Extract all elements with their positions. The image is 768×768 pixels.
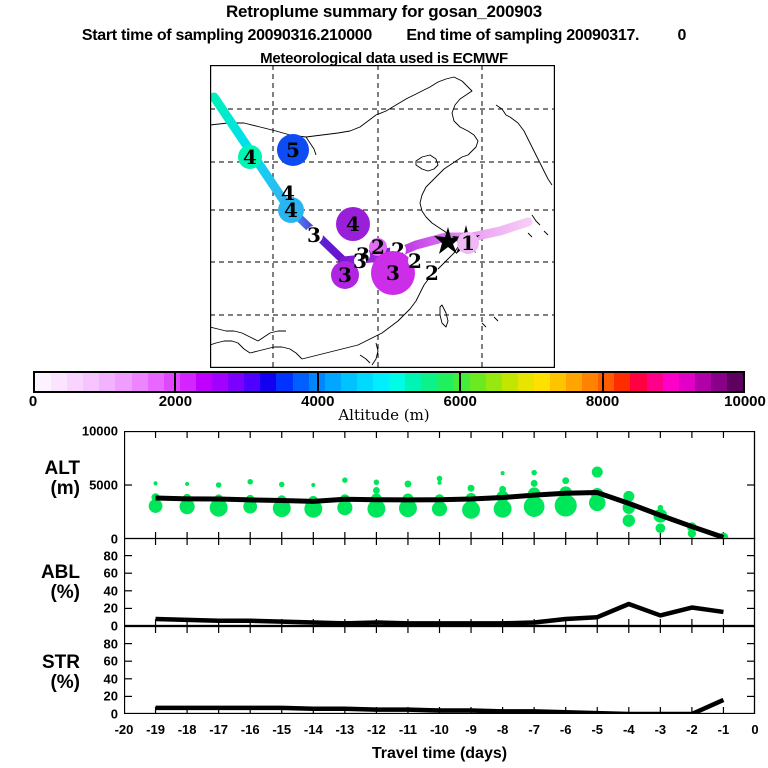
altitude-bubble	[658, 505, 664, 511]
colorbar-swatch	[260, 373, 276, 391]
xaxis-tick-label: -6	[560, 722, 572, 737]
colorbar-swatch	[325, 373, 341, 391]
map-svg: 454434333223221	[210, 65, 555, 368]
colorbar-swatch	[405, 373, 421, 391]
colorbar-swatch	[679, 373, 695, 391]
map-cluster: 2	[425, 261, 439, 285]
start-time-value: 20090316.210000	[247, 27, 372, 44]
cluster-day-label: 4	[243, 145, 257, 169]
str-panel-label: STR (%)	[8, 653, 80, 693]
xaxis-tick-label: -7	[528, 722, 540, 737]
xaxis-tick-label: -13	[335, 722, 354, 737]
altitude-bubble	[247, 479, 253, 485]
colorbar-swatch	[421, 373, 437, 391]
colorbar-swatch	[99, 373, 115, 391]
map-cluster: 4	[281, 181, 295, 205]
altitude-bubble	[468, 485, 475, 492]
colorbar-swatch	[35, 373, 51, 391]
altitude-bubble	[374, 480, 380, 486]
altitude-bubble	[437, 476, 443, 482]
colorbar-swatch	[614, 373, 630, 391]
colorbar-swatch	[293, 373, 309, 391]
yaxis-tick-label: 80	[72, 548, 118, 563]
yaxis-tick-label: 20	[72, 689, 118, 704]
start-time-label: Start time of sampling	[82, 27, 243, 44]
colorbar-separator	[174, 371, 176, 393]
altitude-bubble	[531, 470, 537, 476]
alt-label-line1: ALT	[44, 458, 80, 479]
colorbar-swatch	[518, 373, 534, 391]
altitude-colorbar	[33, 371, 745, 393]
altitude-bubble	[373, 487, 380, 494]
colorbar-swatch	[228, 373, 244, 391]
colorbar-separator	[317, 371, 319, 393]
xaxis-title: Travel time (days)	[124, 745, 755, 763]
yaxis-tick-label: 80	[72, 636, 118, 651]
altitude-bubble	[405, 480, 412, 487]
xaxis-tick-label: -9	[465, 722, 477, 737]
map-cluster: 5	[277, 134, 309, 166]
xaxis-tick-label: -1	[718, 722, 730, 737]
altitude-bubble	[311, 483, 315, 487]
colorbar-swatch	[148, 373, 164, 391]
map-cluster: 4	[238, 145, 262, 169]
cluster-day-label: 5	[286, 138, 300, 162]
colorbar-swatch	[663, 373, 679, 391]
altitude-bubble	[688, 529, 696, 537]
altitude-bubble	[562, 477, 569, 484]
colorbar-swatch	[389, 373, 405, 391]
colorbar-swatch	[132, 373, 148, 391]
colorbar-swatch	[437, 373, 453, 391]
alt-panel-label: ALT (m)	[8, 459, 80, 499]
yaxis-tick-label: 40	[72, 671, 118, 686]
altitude-bubble	[656, 523, 666, 533]
xaxis-tick-label: -15	[272, 722, 291, 737]
colorbar-swatch	[582, 373, 598, 391]
colorbar-swatch	[67, 373, 83, 391]
yaxis-tick-label: 40	[72, 583, 118, 598]
colorbar-swatch	[212, 373, 228, 391]
xaxis-tick-label: -18	[178, 722, 197, 737]
map-cluster: 3	[353, 249, 367, 273]
colorbar-swatch	[711, 373, 727, 391]
abl-label-line2: (%)	[8, 583, 80, 603]
colorbar-swatch	[630, 373, 646, 391]
yaxis-tick-label: 0	[72, 532, 118, 547]
xaxis-tick-label: -19	[146, 722, 165, 737]
cluster-day-label: 4	[346, 212, 360, 236]
yaxis-tick-label: 20	[72, 601, 118, 616]
altitude-bubble	[342, 477, 348, 483]
colorbar-separator	[602, 371, 604, 393]
xaxis-tick-label: -4	[623, 722, 635, 737]
colorbar-swatches	[33, 371, 745, 393]
cluster-day-label: 3	[353, 249, 367, 273]
colorbar-swatch	[550, 373, 566, 391]
plot-frame	[125, 539, 755, 626]
altitude-bubble	[592, 467, 603, 478]
colorbar-swatch	[196, 373, 212, 391]
altitude-bubble	[185, 482, 189, 486]
xaxis-tick-label: -5	[591, 722, 603, 737]
colorbar-swatch	[373, 373, 389, 391]
colorbar-swatch	[486, 373, 502, 391]
altitude-bubble	[437, 481, 441, 485]
alt-label-line2: (m)	[8, 479, 80, 499]
xaxis-tick-label: -10	[430, 722, 449, 737]
xaxis-tick-label: -11	[399, 722, 417, 737]
xaxis-tick-label: -20	[115, 722, 134, 737]
colorbar-swatch	[115, 373, 131, 391]
colorbar-swatch	[453, 373, 469, 391]
xaxis-tick-label: -16	[241, 722, 260, 737]
yaxis-tick-label: 5000	[72, 478, 118, 493]
colorbar-swatch	[244, 373, 260, 391]
colorbar-separator	[459, 371, 461, 393]
yaxis-tick-label: 60	[72, 654, 118, 669]
mean-value-line	[156, 700, 724, 714]
yaxis-tick-label: 0	[72, 619, 118, 634]
alt-plot	[124, 431, 756, 539]
xaxis-tick-label: 0	[751, 722, 758, 737]
altitude-bubble	[499, 486, 506, 493]
colorbar-swatch	[647, 373, 663, 391]
colorbar-swatch	[164, 373, 180, 391]
altitude-bubble	[279, 482, 285, 488]
altitude-bubble	[501, 471, 505, 475]
abl-plot	[124, 538, 756, 626]
cluster-day-label: 2	[408, 249, 422, 273]
plot-frame	[125, 627, 755, 714]
cluster-day-label: 1	[461, 231, 475, 255]
yaxis-tick-label: 10000	[72, 424, 118, 439]
altitude-bubble	[153, 481, 157, 485]
yaxis-tick-label: 60	[72, 566, 118, 581]
colorbar-swatch	[51, 373, 67, 391]
retroplume-map: 454434333223221	[210, 65, 555, 368]
altitude-bubble	[216, 482, 222, 488]
xaxis-tick-label: -2	[686, 722, 698, 737]
colorbar-swatch	[727, 373, 743, 391]
xaxis-tick-label: -8	[497, 722, 509, 737]
altitude-bubble	[623, 514, 635, 526]
map-cluster: 4	[336, 207, 370, 241]
cluster-day-label: 3	[386, 261, 400, 285]
end-time-extra: 0	[678, 27, 687, 44]
colorbar-swatch	[566, 373, 582, 391]
colorbar-swatch	[470, 373, 486, 391]
str-label-line2: (%)	[8, 673, 80, 693]
colorbar-swatch	[357, 373, 373, 391]
colorbar-swatch	[180, 373, 196, 391]
sampling-time-line: Start time of sampling 20090316.210000 E…	[0, 27, 768, 45]
yaxis-tick-label: 0	[72, 707, 118, 722]
cluster-day-label: 3	[338, 263, 352, 287]
end-time-value: 20090317.	[566, 27, 639, 44]
colorbar-swatch	[695, 373, 711, 391]
colorbar-swatch	[341, 373, 357, 391]
xaxis-tick-label: -17	[209, 722, 228, 737]
xaxis-tick-label: -14	[304, 722, 323, 737]
figure-title: Retroplume summary for gosan_200903	[0, 2, 768, 22]
map-cluster: 3	[305, 223, 323, 247]
colorbar-swatch	[276, 373, 292, 391]
cluster-day-label: 4	[281, 181, 295, 205]
colorbar-swatch	[534, 373, 550, 391]
str-plot	[124, 626, 756, 714]
altitude-bubble	[531, 480, 538, 487]
xaxis-tick-label: -3	[655, 722, 667, 737]
cluster-day-label: 2	[425, 261, 439, 285]
colorbar-swatch	[83, 373, 99, 391]
cluster-day-label: 3	[307, 223, 321, 247]
abl-panel-label: ABL (%)	[8, 563, 80, 603]
xaxis-tick-label: -12	[367, 722, 386, 737]
figure-canvas: Retroplume summary for gosan_200903 Star…	[0, 0, 768, 768]
end-time-label: End time of sampling	[406, 27, 562, 44]
colorbar-swatch	[502, 373, 518, 391]
colorbar-axis-label: Altitude (m)	[0, 406, 768, 424]
map-cluster: 2	[408, 249, 422, 273]
